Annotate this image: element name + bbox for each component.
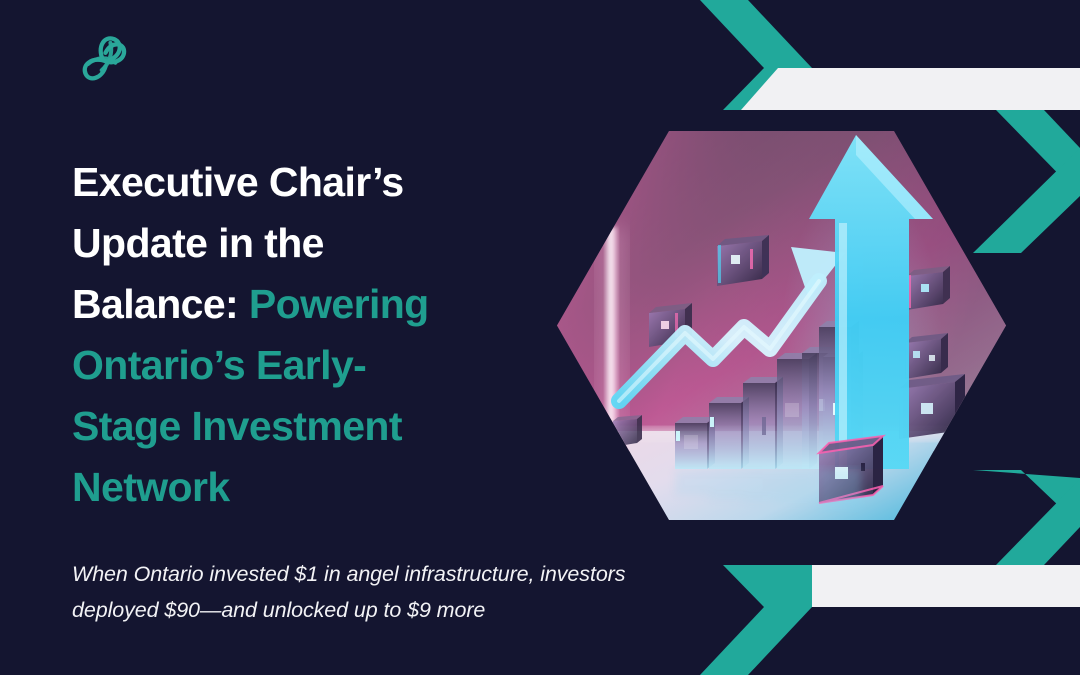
headline-accent-2: Ontario’s Early- — [72, 342, 366, 388]
headline-accent-4: Network — [72, 464, 230, 510]
chevron-ribbon-top-teal-bar — [723, 68, 812, 110]
floating-cube — [613, 415, 642, 447]
chevron-ribbon-bottom-teal-bar — [723, 565, 812, 607]
floating-cube — [907, 266, 950, 310]
chevron-ribbon-top-white — [741, 68, 1080, 110]
floating-cube — [905, 333, 948, 379]
headline-line-2: Update in the — [72, 220, 324, 266]
hero-image — [557, 131, 1006, 520]
page-title: Executive Chair’sUpdate in theBalance: P… — [72, 152, 542, 518]
headline-accent-1: Powering — [249, 281, 429, 327]
headline-block: Executive Chair’sUpdate in theBalance: P… — [72, 152, 542, 518]
subtitle: When Ontario invested $1 in angel infras… — [72, 556, 632, 628]
headline-accent-3: Stage Investment — [72, 403, 402, 449]
chevron-ribbon-top-teal-right — [996, 110, 1080, 196]
chevron-ribbon-bottom-white — [741, 565, 1080, 607]
chevron-ribbon-top-teal-left — [700, 0, 812, 68]
slide-canvas: Executive Chair’sUpdate in theBalance: P… — [0, 0, 1080, 675]
headline-line-1: Executive Chair’s — [72, 159, 404, 205]
headline-line-3: Balance: — [72, 281, 249, 327]
growth-chart-3d-render — [557, 131, 1006, 520]
chevron-ribbon-bottom-teal-right — [996, 479, 1080, 565]
trefoil-knot-logo[interactable] — [72, 28, 134, 90]
floating-cube — [717, 235, 769, 286]
trefoil-knot-icon — [72, 28, 134, 90]
chevron-ribbon-bottom-teal-left — [700, 607, 812, 675]
